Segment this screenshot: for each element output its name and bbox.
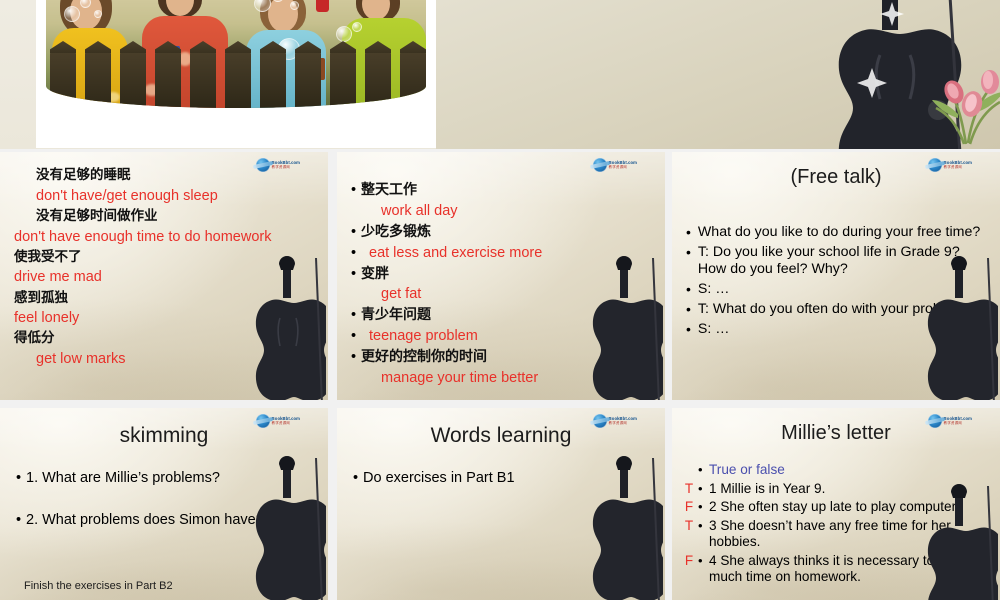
list-item: •T: Do you like your school life in Grad… [686, 244, 986, 278]
vocab-line: get fat [381, 286, 421, 302]
list-item: •S: … [686, 281, 986, 298]
list-item-text: 3 She doesn’t have any free time for her… [709, 518, 994, 551]
list-item: T • 1 Millie is in Year 9. [680, 481, 994, 498]
bullet-dot: • [16, 470, 26, 486]
bullet-dot: • [353, 470, 363, 486]
bullet-dot: • [698, 499, 709, 515]
list-item: •Do exercises in Part B1 [353, 470, 651, 486]
bullet-dot: • [686, 244, 691, 278]
vocab-line: 没有足够的睡眠 [14, 166, 298, 186]
list-item-text: 1 Millie is in Year 9. [709, 481, 825, 498]
list-item-text: What do you like to do during your free … [698, 224, 980, 241]
free-talk-list: •What do you like to do during your free… [686, 224, 986, 341]
bullet-dot: • [698, 462, 709, 478]
bullet-dot: • [686, 281, 691, 298]
slide-free-talk[interactable]: BookBbt.com 教学资源网 (Free talk) •What do y… [672, 152, 1000, 400]
answer-mark: T [680, 518, 698, 534]
vocab-line: work all day [381, 203, 458, 219]
globe-icon [593, 158, 607, 172]
site-logo-watermark: BookBbt.com 教学资源网 [593, 158, 637, 172]
list-item-text: True or false [709, 462, 785, 479]
slide-vocabulary-2[interactable]: BookBbt.com 教学资源网 •整天工作 work all day •少吃… [337, 152, 665, 400]
bullet-dot: • [351, 305, 361, 326]
vocab-line: 得低分 [14, 329, 298, 349]
vocab-line: 青少年问题 [361, 307, 431, 323]
list-item: •What do you like to do during your free… [686, 224, 986, 241]
bullet-dot: • [351, 222, 361, 243]
list-item-text: S: … [698, 321, 730, 338]
answer-mark: F [680, 499, 698, 515]
assignment-note: Finish the exercises in Part B2 [24, 580, 173, 592]
slide-skimming[interactable]: BookBbt.com 教学资源网 skimming •1. What are … [0, 408, 328, 600]
list-item: •1. What are Millie’s problems? [16, 470, 314, 486]
true-false-list: • True or false T • 1 Millie is in Year … [680, 462, 994, 588]
vocab-line: manage your time better [381, 370, 538, 386]
slide-vocabulary-1[interactable]: BookBbt.com 教学资源网 没有足够的睡眠 don't have/get… [0, 152, 328, 400]
list-item-text: 1. What are Millie’s problems? [26, 470, 220, 486]
list-item-text: T: Do you like your school life in Grade… [698, 244, 986, 278]
list-item-text: 2. What problems does Simon have? [26, 512, 264, 528]
list-item-text: T: What do you often do with your proble… [698, 301, 979, 318]
vocab-line: drive me mad [14, 267, 298, 288]
vocab-line: 少吃多锻炼 [361, 224, 431, 240]
answer-mark: T [680, 481, 698, 497]
vocab-line: 整天工作 [361, 182, 417, 198]
bullet-dot: • [351, 326, 361, 347]
bullet-dot: • [351, 243, 361, 264]
list-item: •2. What problems does Simon have? [16, 512, 314, 528]
slide-title: Millie’s letter [672, 422, 1000, 445]
vocab-line: 使我受不了 [14, 248, 298, 268]
fence [46, 50, 426, 108]
slide-bubbles-photo[interactable] [0, 0, 1000, 149]
vocab-line: 变胖 [361, 266, 389, 282]
bullet-dot: • [698, 553, 709, 569]
bullet-dot: • [686, 224, 691, 241]
list-item: F • 4 She always thinks it is necessary … [680, 553, 994, 586]
vocab-line: 更好的控制你的时间 [361, 349, 487, 365]
slide-1-body: 没有足够的睡眠 don't have/get enough sleep 没有足够… [14, 166, 298, 370]
vocab-line: don't have enough time to do homework [14, 227, 298, 248]
answer-mark: F [680, 553, 698, 569]
slide-millies-letter[interactable]: BookBbt.com 教学资源网 Millie’s letter • True… [672, 408, 1000, 600]
slide-words-learning[interactable]: BookBbt.com 教学资源网 Words learning •Do exe… [337, 408, 665, 600]
vocab-line: don't have/get enough sleep [14, 186, 298, 207]
list-item-text: 4 She always thinks it is necessary to s… [709, 553, 994, 586]
skimming-questions: •1. What are Millie’s problems? •2. What… [16, 470, 314, 554]
vocab-line: teenage problem [361, 328, 478, 344]
list-item-text: 2 She often stay up late to play compute… [709, 499, 959, 516]
bullet-dot: • [686, 321, 691, 338]
slide-2-body: •整天工作 work all day •少吃多锻炼 •eat less and … [351, 180, 645, 389]
wall-background [436, 0, 1000, 149]
vocab-line: 感到孤独 [14, 289, 298, 309]
bubbles-photo [46, 0, 426, 108]
list-item-text: S: … [698, 281, 730, 298]
slide-thumbnail-grid: BookBbt.com 教学资源网 没有足够的睡眠 don't have/get… [0, 0, 1000, 600]
list-item: •T: What do you often do with your probl… [686, 301, 986, 318]
list-item: T • 3 She doesn’t have any free time for… [680, 518, 994, 551]
slide-title: (Free talk) [672, 166, 1000, 189]
list-item: F • 2 She often stay up late to play com… [680, 499, 994, 516]
logo-text-secondary: 教学资源网 [609, 166, 637, 169]
tulip-flowers-illustration [928, 48, 1000, 148]
vocab-line: get low marks [14, 349, 298, 370]
bullet-dot: • [698, 481, 709, 497]
bullet-dot: • [16, 512, 26, 528]
vocab-line: feel lonely [14, 308, 298, 329]
vocab-line: eat less and exercise more [361, 245, 542, 261]
vocab-line: 没有足够时间做作业 [14, 207, 298, 227]
slide-title: Words learning [337, 424, 665, 448]
bullet-dot: • [351, 180, 361, 201]
bullet-dot: • [686, 301, 691, 318]
bullet-dot: • [351, 264, 361, 285]
list-item: •S: … [686, 321, 986, 338]
bullet-dot: • [351, 347, 361, 368]
list-item-text: Do exercises in Part B1 [363, 470, 515, 486]
slide-title: skimming [0, 424, 328, 448]
bullet-dot: • [698, 518, 709, 534]
list-item: • True or false [680, 462, 994, 479]
words-learning-tasks: •Do exercises in Part B1 [353, 470, 651, 486]
